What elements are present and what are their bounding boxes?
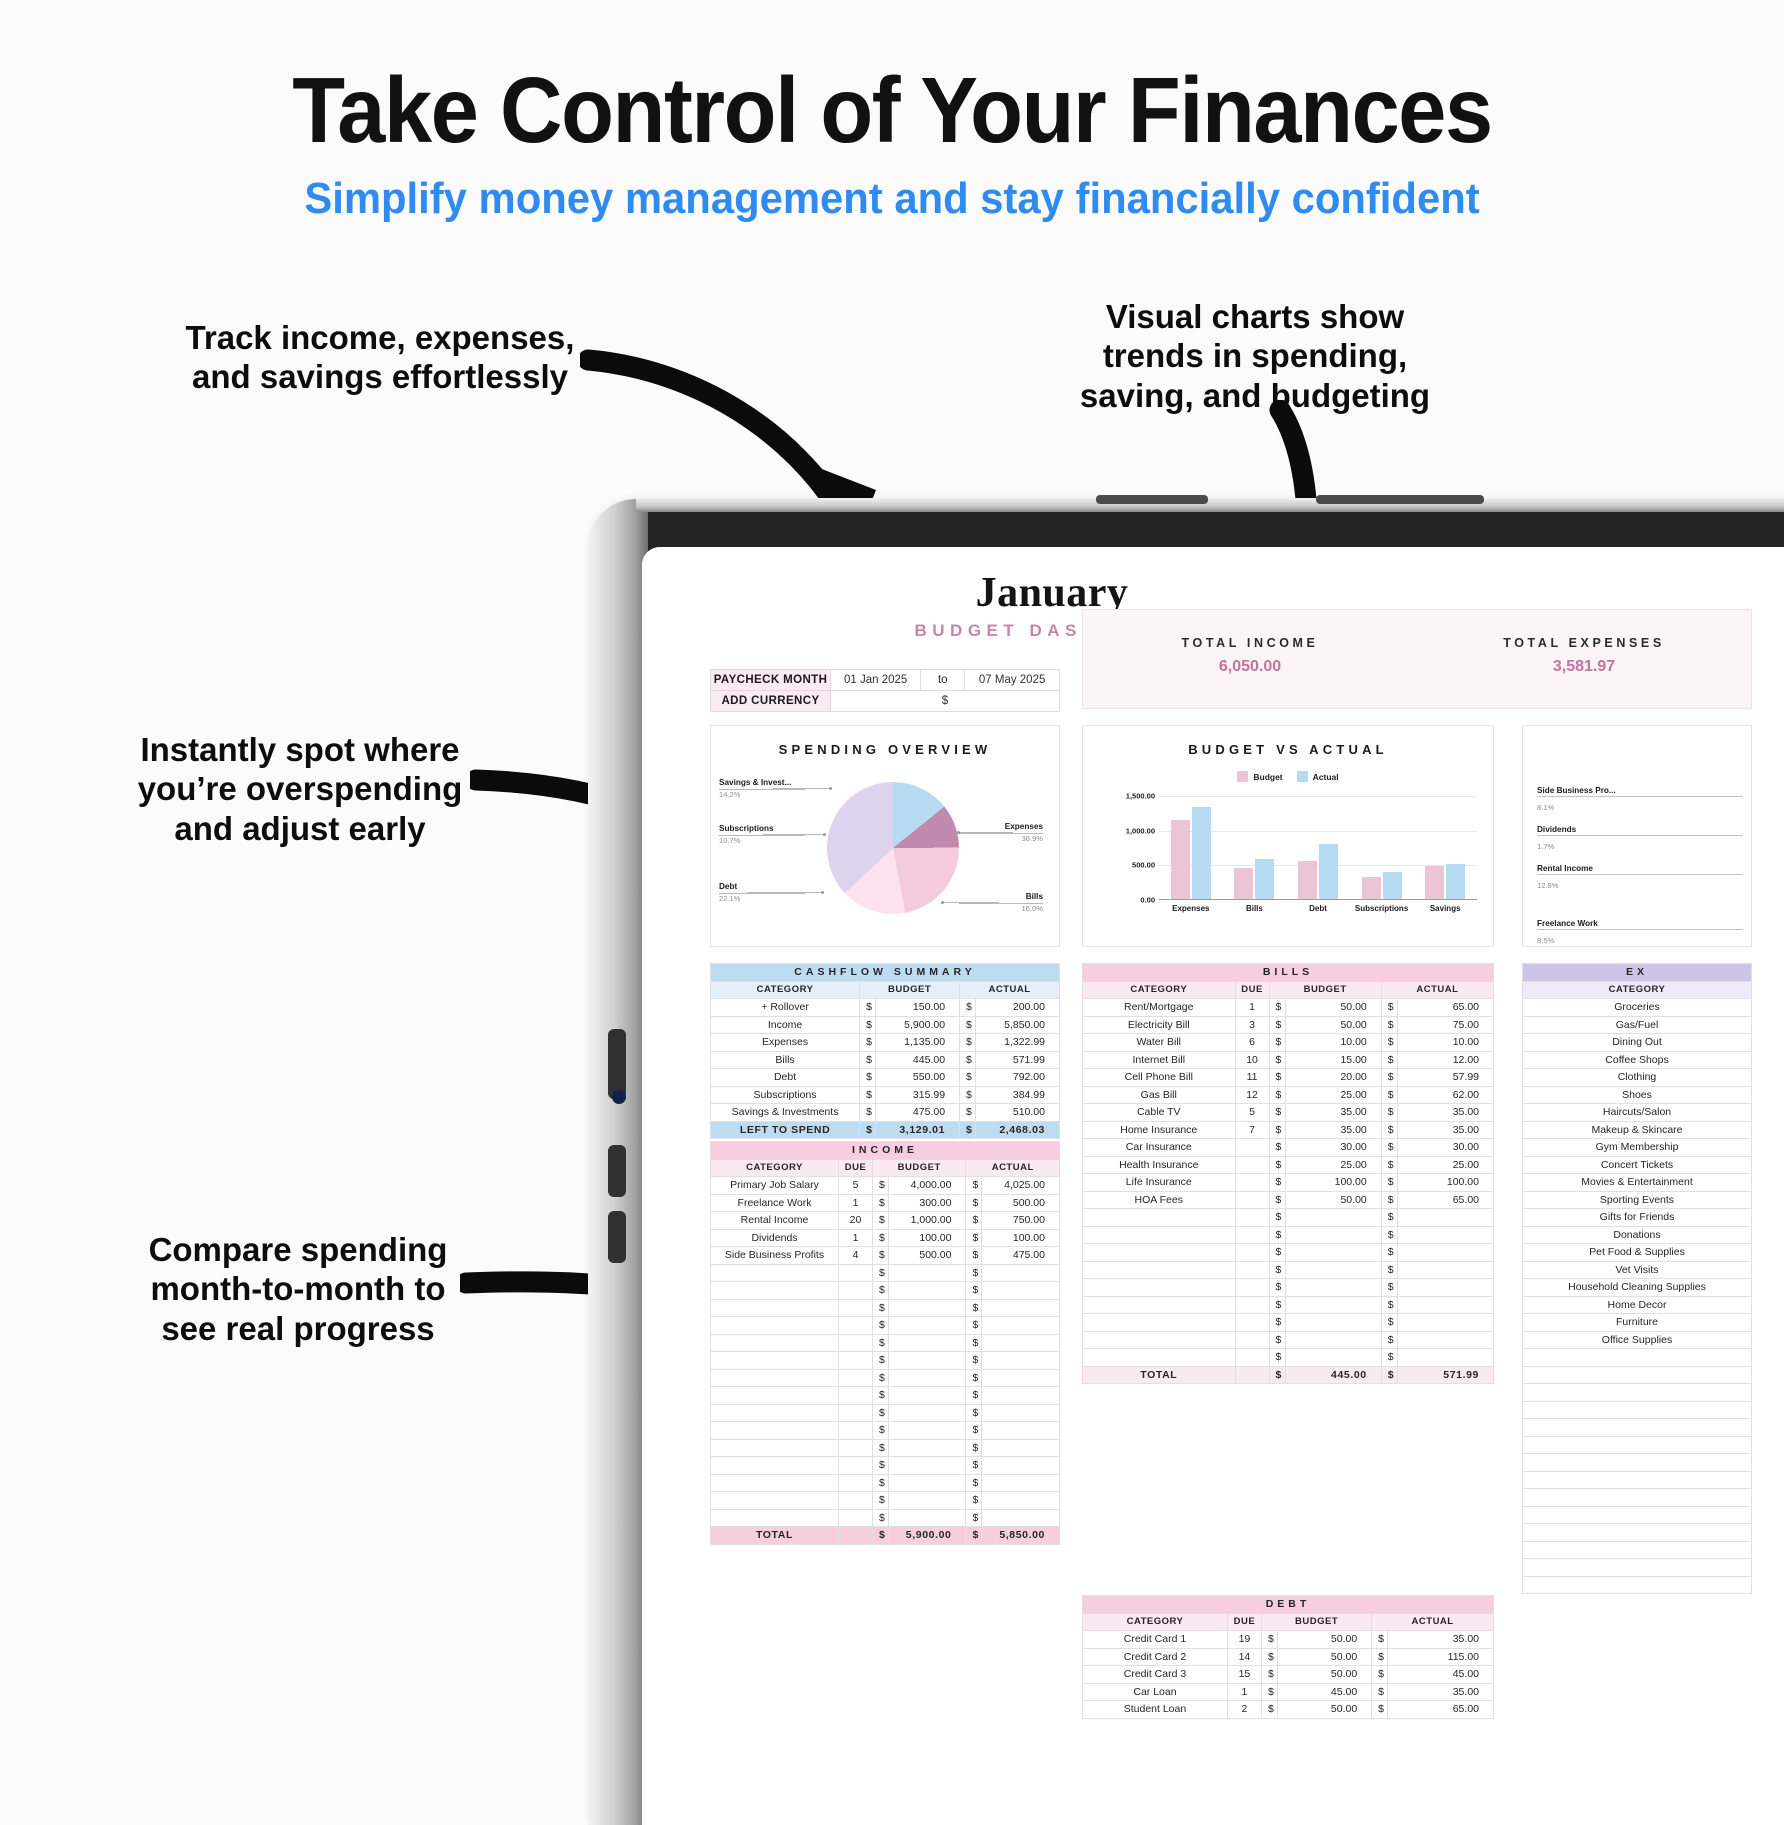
cell-actual[interactable] bbox=[1397, 1296, 1493, 1314]
cell-budget[interactable]: 1,000.00 bbox=[888, 1212, 966, 1230]
cell-budget[interactable]: 35.00 bbox=[1285, 1121, 1381, 1139]
cell-currency[interactable]: $ bbox=[1261, 1701, 1277, 1719]
blank-row[interactable]: $$ bbox=[711, 1369, 1060, 1387]
cell-currency[interactable]: $ bbox=[966, 1352, 982, 1370]
cell-budget[interactable] bbox=[1285, 1296, 1381, 1314]
cell-budget[interactable]: 1,135.00 bbox=[876, 1034, 960, 1052]
cell-currency[interactable]: $ bbox=[966, 1527, 982, 1545]
cell-due[interactable]: 4 bbox=[838, 1247, 872, 1265]
blank-row[interactable] bbox=[1523, 1401, 1752, 1419]
cell-actual[interactable]: 35.00 bbox=[1388, 1631, 1494, 1649]
cell-currency[interactable]: $ bbox=[872, 1264, 888, 1282]
cell-actual[interactable] bbox=[982, 1352, 1060, 1370]
cell-category[interactable] bbox=[711, 1457, 839, 1475]
cell-currency[interactable]: $ bbox=[966, 1212, 982, 1230]
cell-budget[interactable]: 445.00 bbox=[876, 1051, 960, 1069]
cell-currency[interactable]: $ bbox=[872, 1177, 888, 1195]
cell-category[interactable] bbox=[1083, 1244, 1236, 1262]
cell-category[interactable]: Cell Phone Bill bbox=[1083, 1069, 1236, 1087]
cell-currency[interactable]: $ bbox=[860, 999, 876, 1017]
cell-currency[interactable]: $ bbox=[872, 1369, 888, 1387]
blank-row[interactable] bbox=[1523, 1419, 1752, 1437]
cell-category[interactable]: Car Insurance bbox=[1083, 1139, 1236, 1157]
cell-category[interactable]: Coffee Shops bbox=[1523, 1051, 1752, 1069]
cell-budget[interactable]: 100.00 bbox=[1285, 1174, 1381, 1192]
cell-currency[interactable]: $ bbox=[966, 1282, 982, 1300]
cell-budget[interactable]: 50.00 bbox=[1285, 999, 1381, 1017]
cell-currency[interactable]: $ bbox=[1381, 1086, 1397, 1104]
cell-due[interactable] bbox=[1235, 1296, 1269, 1314]
cell-category[interactable] bbox=[1083, 1296, 1236, 1314]
cell-budget[interactable]: 50.00 bbox=[1277, 1648, 1371, 1666]
cell-currency[interactable]: $ bbox=[1381, 1104, 1397, 1122]
cell-due[interactable]: 12 bbox=[1235, 1086, 1269, 1104]
row-total[interactable]: TOTAL$445.00$571.99 bbox=[1083, 1366, 1494, 1384]
cell-currency[interactable]: $ bbox=[966, 1369, 982, 1387]
cell-currency[interactable]: $ bbox=[1269, 1261, 1285, 1279]
cell-actual[interactable]: 510.00 bbox=[976, 1104, 1060, 1122]
blank-row[interactable] bbox=[1523, 1366, 1752, 1384]
cell-due[interactable] bbox=[838, 1527, 872, 1545]
cell-currency[interactable]: $ bbox=[872, 1474, 888, 1492]
cell-budget[interactable] bbox=[1285, 1226, 1381, 1244]
cell-category[interactable]: Haircuts/Salon bbox=[1523, 1104, 1752, 1122]
cell-actual[interactable]: 62.00 bbox=[1397, 1086, 1493, 1104]
cell-currency[interactable]: $ bbox=[1261, 1631, 1277, 1649]
cell-actual[interactable] bbox=[1397, 1279, 1493, 1297]
cell-category[interactable] bbox=[711, 1492, 839, 1510]
cell-currency[interactable]: $ bbox=[966, 1264, 982, 1282]
blank-row[interactable]: $$ bbox=[1083, 1331, 1494, 1349]
cell-category[interactable] bbox=[711, 1387, 839, 1405]
cell-category[interactable]: Pet Food & Supplies bbox=[1523, 1244, 1752, 1262]
cell-category[interactable] bbox=[711, 1474, 839, 1492]
cell-currency[interactable]: $ bbox=[1269, 1279, 1285, 1297]
table-row[interactable]: Car Loan1$45.00$35.00 bbox=[1083, 1683, 1494, 1701]
cell-due[interactable]: 20 bbox=[838, 1212, 872, 1230]
blank-row[interactable] bbox=[1523, 1471, 1752, 1489]
cell-category[interactable]: Electricity Bill bbox=[1083, 1016, 1236, 1034]
cell-category[interactable]: Credit Card 2 bbox=[1083, 1648, 1228, 1666]
blank-row[interactable]: $$ bbox=[711, 1352, 1060, 1370]
cell-total-budget[interactable]: 445.00 bbox=[1285, 1366, 1381, 1384]
cell-due[interactable] bbox=[838, 1282, 872, 1300]
cell-currency[interactable]: $ bbox=[1381, 1366, 1397, 1384]
cell-category[interactable] bbox=[711, 1404, 839, 1422]
cell-currency[interactable]: $ bbox=[872, 1404, 888, 1422]
cell-actual[interactable]: 10.00 bbox=[1397, 1034, 1493, 1052]
cell-category[interactable]: Gas Bill bbox=[1083, 1086, 1236, 1104]
cell-due[interactable]: 6 bbox=[1235, 1034, 1269, 1052]
cell-actual[interactable]: 35.00 bbox=[1397, 1121, 1493, 1139]
cell-actual[interactable]: 500.00 bbox=[982, 1194, 1060, 1212]
cell-actual[interactable] bbox=[1397, 1209, 1493, 1227]
cell-actual[interactable] bbox=[982, 1509, 1060, 1527]
cell-currency[interactable]: $ bbox=[1269, 1034, 1285, 1052]
cell-currency[interactable]: $ bbox=[966, 1422, 982, 1440]
cell-currency[interactable]: $ bbox=[966, 1247, 982, 1265]
cell-total-label[interactable]: LEFT TO SPEND bbox=[711, 1121, 860, 1139]
cell-currency[interactable]: $ bbox=[860, 1016, 876, 1034]
cell-budget[interactable] bbox=[888, 1299, 966, 1317]
table-row[interactable]: Savings & Investments$475.00$510.00 bbox=[711, 1104, 1060, 1122]
cell-due[interactable] bbox=[1235, 1349, 1269, 1367]
cell-category[interactable]: Subscriptions bbox=[711, 1086, 860, 1104]
table-row[interactable]: Credit Card 214$50.00$115.00 bbox=[1083, 1648, 1494, 1666]
cell-due[interactable]: 5 bbox=[838, 1177, 872, 1195]
table-row[interactable]: Gas/Fuel bbox=[1523, 1016, 1752, 1034]
cell-budget[interactable]: 50.00 bbox=[1277, 1631, 1371, 1649]
cell-category[interactable]: Health Insurance bbox=[1083, 1156, 1236, 1174]
cell-budget[interactable]: 45.00 bbox=[1277, 1683, 1371, 1701]
blank-row[interactable]: $$ bbox=[1083, 1279, 1494, 1297]
cell-actual[interactable]: 200.00 bbox=[976, 999, 1060, 1017]
cell-actual[interactable] bbox=[982, 1387, 1060, 1405]
cell-currency[interactable]: $ bbox=[1381, 1191, 1397, 1209]
blank-row[interactable]: $$ bbox=[711, 1387, 1060, 1405]
table-row[interactable]: Haircuts/Salon bbox=[1523, 1104, 1752, 1122]
cell-due[interactable]: 1 bbox=[838, 1229, 872, 1247]
cell-currency[interactable]: $ bbox=[966, 1317, 982, 1335]
table-row[interactable]: Debt$550.00$792.00 bbox=[711, 1069, 1060, 1087]
cell-currency[interactable]: $ bbox=[1381, 1349, 1397, 1367]
blank-row[interactable] bbox=[1523, 1559, 1752, 1577]
cell-due[interactable]: 3 bbox=[1235, 1016, 1269, 1034]
cell-due[interactable] bbox=[1235, 1156, 1269, 1174]
cell-currency[interactable]: $ bbox=[966, 1457, 982, 1475]
cell-currency[interactable]: $ bbox=[1269, 1174, 1285, 1192]
cell-currency[interactable]: $ bbox=[860, 1069, 876, 1087]
cell-currency[interactable]: $ bbox=[872, 1457, 888, 1475]
tablet-volume-up-button[interactable] bbox=[608, 1029, 626, 1099]
cell-category[interactable]: Water Bill bbox=[1083, 1034, 1236, 1052]
cell-currency[interactable]: $ bbox=[966, 1404, 982, 1422]
cell-currency[interactable]: $ bbox=[860, 1104, 876, 1122]
cell-budget[interactable]: 25.00 bbox=[1285, 1156, 1381, 1174]
cell-actual[interactable]: 65.00 bbox=[1388, 1701, 1494, 1719]
blank-row[interactable]: $$ bbox=[711, 1334, 1060, 1352]
cell-budget[interactable] bbox=[1285, 1244, 1381, 1262]
cell-currency[interactable]: $ bbox=[860, 1121, 876, 1139]
cell-currency[interactable]: $ bbox=[872, 1509, 888, 1527]
cell-currency[interactable]: $ bbox=[1261, 1683, 1277, 1701]
cell-budget[interactable]: 35.00 bbox=[1285, 1104, 1381, 1122]
cell-category[interactable] bbox=[711, 1352, 839, 1370]
cell-due[interactable]: 1 bbox=[838, 1194, 872, 1212]
table-row[interactable]: Vet Visits bbox=[1523, 1261, 1752, 1279]
cell-due[interactable] bbox=[1235, 1331, 1269, 1349]
table-row[interactable]: Bills$445.00$571.99 bbox=[711, 1051, 1060, 1069]
cell-currency[interactable]: $ bbox=[1381, 999, 1397, 1017]
cell-currency[interactable]: $ bbox=[1381, 1314, 1397, 1332]
cell-currency[interactable]: $ bbox=[1269, 1121, 1285, 1139]
cell-category[interactable]: Income bbox=[711, 1016, 860, 1034]
row-total[interactable]: LEFT TO SPEND$3,129.01$2,468.03 bbox=[711, 1121, 1060, 1139]
cell-category[interactable] bbox=[711, 1509, 839, 1527]
cell-currency[interactable]: $ bbox=[1269, 1314, 1285, 1332]
cell-category[interactable]: Debt bbox=[711, 1069, 860, 1087]
cell-currency[interactable]: $ bbox=[1372, 1631, 1388, 1649]
cell-budget[interactable]: 20.00 bbox=[1285, 1069, 1381, 1087]
cell-category[interactable] bbox=[1083, 1209, 1236, 1227]
cell-currency[interactable]: $ bbox=[872, 1229, 888, 1247]
cell-category[interactable]: Credit Card 1 bbox=[1083, 1631, 1228, 1649]
cell-budget[interactable]: 15.00 bbox=[1285, 1051, 1381, 1069]
cell-category[interactable] bbox=[711, 1369, 839, 1387]
cell-actual[interactable]: 12.00 bbox=[1397, 1051, 1493, 1069]
blank-row[interactable]: $$ bbox=[711, 1282, 1060, 1300]
cell-total-label[interactable]: TOTAL bbox=[1083, 1366, 1236, 1384]
cell-category[interactable]: Movies & Entertainment bbox=[1523, 1174, 1752, 1192]
cell-budget[interactable]: 475.00 bbox=[876, 1104, 960, 1122]
cell-actual[interactable] bbox=[982, 1282, 1060, 1300]
cell-actual[interactable]: 65.00 bbox=[1397, 1191, 1493, 1209]
table-row[interactable]: Concert Tickets bbox=[1523, 1156, 1752, 1174]
cell-currency[interactable]: $ bbox=[872, 1527, 888, 1545]
cell-category[interactable] bbox=[1523, 1454, 1752, 1472]
cell-currency[interactable]: $ bbox=[1381, 1244, 1397, 1262]
cell-category[interactable] bbox=[1523, 1436, 1752, 1454]
cell-currency[interactable]: $ bbox=[1269, 1349, 1285, 1367]
table-row[interactable]: Student Loan2$50.00$65.00 bbox=[1083, 1701, 1494, 1719]
cell-category[interactable] bbox=[1083, 1331, 1236, 1349]
row-total[interactable]: TOTAL$5,900.00$5,850.00 bbox=[711, 1527, 1060, 1545]
cell-budget[interactable] bbox=[888, 1334, 966, 1352]
cell-currency[interactable]: $ bbox=[1269, 1156, 1285, 1174]
cell-actual[interactable]: 750.00 bbox=[982, 1212, 1060, 1230]
cell-actual[interactable] bbox=[982, 1264, 1060, 1282]
cell-actual[interactable]: 30.00 bbox=[1397, 1139, 1493, 1157]
cell-currency[interactable]: $ bbox=[1381, 1226, 1397, 1244]
cell-currency[interactable]: $ bbox=[1372, 1666, 1388, 1684]
cell-currency[interactable]: $ bbox=[1381, 1261, 1397, 1279]
cell-currency[interactable]: $ bbox=[966, 1299, 982, 1317]
cell-budget[interactable]: 50.00 bbox=[1285, 1191, 1381, 1209]
cell-category[interactable]: + Rollover bbox=[711, 999, 860, 1017]
table-row[interactable]: Sporting Events bbox=[1523, 1191, 1752, 1209]
cell-category[interactable]: Household Cleaning Supplies bbox=[1523, 1279, 1752, 1297]
cell-currency[interactable]: $ bbox=[966, 1177, 982, 1195]
cell-category[interactable] bbox=[711, 1317, 839, 1335]
blank-row[interactable]: $$ bbox=[711, 1264, 1060, 1282]
cell-category[interactable] bbox=[711, 1282, 839, 1300]
blank-row[interactable]: $$ bbox=[711, 1492, 1060, 1510]
cell-currency[interactable]: $ bbox=[960, 999, 976, 1017]
cell-category[interactable]: Life Insurance bbox=[1083, 1174, 1236, 1192]
blank-row[interactable]: $$ bbox=[711, 1422, 1060, 1440]
blank-row[interactable]: $$ bbox=[1083, 1296, 1494, 1314]
cell-budget[interactable] bbox=[888, 1264, 966, 1282]
cell-currency[interactable]: $ bbox=[1372, 1648, 1388, 1666]
cell-due[interactable] bbox=[838, 1439, 872, 1457]
cell-actual[interactable]: 57.99 bbox=[1397, 1069, 1493, 1087]
cell-budget[interactable]: 300.00 bbox=[888, 1194, 966, 1212]
table-row[interactable]: Home Decor bbox=[1523, 1296, 1752, 1314]
cell-category[interactable]: Expenses bbox=[711, 1034, 860, 1052]
cell-category[interactable] bbox=[711, 1422, 839, 1440]
cell-total-actual[interactable]: 571.99 bbox=[1397, 1366, 1493, 1384]
cell-due[interactable] bbox=[838, 1299, 872, 1317]
cell-budget[interactable] bbox=[888, 1369, 966, 1387]
table-row[interactable]: Side Business Profits4$500.00$475.00 bbox=[711, 1247, 1060, 1265]
cell-due[interactable]: 19 bbox=[1227, 1631, 1261, 1649]
cell-currency[interactable]: $ bbox=[872, 1317, 888, 1335]
cell-category[interactable]: Home Insurance bbox=[1083, 1121, 1236, 1139]
table-row[interactable]: Dividends1$100.00$100.00 bbox=[711, 1229, 1060, 1247]
cell-currency[interactable]: $ bbox=[1381, 1139, 1397, 1157]
cell-category[interactable]: Freelance Work bbox=[711, 1194, 839, 1212]
cell-category[interactable]: Groceries bbox=[1523, 999, 1752, 1017]
cell-budget[interactable]: 30.00 bbox=[1285, 1139, 1381, 1157]
table-row[interactable]: Movies & Entertainment bbox=[1523, 1174, 1752, 1192]
cell-currency[interactable]: $ bbox=[1381, 1331, 1397, 1349]
table-row[interactable]: Cable TV5$35.00$35.00 bbox=[1083, 1104, 1494, 1122]
cell-currency[interactable]: $ bbox=[1381, 1069, 1397, 1087]
cell-actual[interactable]: 571.99 bbox=[976, 1051, 1060, 1069]
cell-actual[interactable] bbox=[1397, 1331, 1493, 1349]
cell-currency[interactable]: $ bbox=[1372, 1683, 1388, 1701]
cell-actual[interactable] bbox=[1397, 1261, 1493, 1279]
table-row[interactable]: Expenses$1,135.00$1,322.99 bbox=[711, 1034, 1060, 1052]
cell-budget[interactable] bbox=[888, 1404, 966, 1422]
cell-currency[interactable]: $ bbox=[860, 1086, 876, 1104]
cell-category[interactable] bbox=[711, 1334, 839, 1352]
table-row[interactable]: Credit Card 315$50.00$45.00 bbox=[1083, 1666, 1494, 1684]
table-row[interactable]: Internet Bill10$15.00$12.00 bbox=[1083, 1051, 1494, 1069]
cell-currency[interactable]: $ bbox=[1381, 1174, 1397, 1192]
cell-currency[interactable]: $ bbox=[960, 1034, 976, 1052]
cell-budget[interactable] bbox=[888, 1387, 966, 1405]
table-row[interactable]: Rental Income20$1,000.00$750.00 bbox=[711, 1212, 1060, 1230]
cell-budget[interactable] bbox=[888, 1474, 966, 1492]
cell-due[interactable] bbox=[838, 1404, 872, 1422]
cell-category[interactable] bbox=[1523, 1384, 1752, 1402]
cell-due[interactable] bbox=[838, 1264, 872, 1282]
cell-currency[interactable]: $ bbox=[1261, 1666, 1277, 1684]
table-row[interactable]: + Rollover$150.00$200.00 bbox=[711, 999, 1060, 1017]
cell-currency[interactable]: $ bbox=[960, 1086, 976, 1104]
cell-currency[interactable]: $ bbox=[872, 1282, 888, 1300]
table-row[interactable]: Coffee Shops bbox=[1523, 1051, 1752, 1069]
table-row[interactable]: Income$5,900.00$5,850.00 bbox=[711, 1016, 1060, 1034]
cell-currency[interactable]: $ bbox=[960, 1016, 976, 1034]
cell-budget[interactable] bbox=[1285, 1349, 1381, 1367]
cell-due[interactable] bbox=[1235, 1226, 1269, 1244]
tablet-power-button[interactable] bbox=[608, 1211, 626, 1263]
table-row[interactable]: Subscriptions$315.99$384.99 bbox=[711, 1086, 1060, 1104]
table-row[interactable]: Office Supplies bbox=[1523, 1331, 1752, 1349]
cell-currency[interactable]: $ bbox=[966, 1387, 982, 1405]
cell-budget[interactable] bbox=[888, 1317, 966, 1335]
cell-currency[interactable]: $ bbox=[966, 1194, 982, 1212]
cell-currency[interactable]: $ bbox=[1269, 1331, 1285, 1349]
cell-due[interactable]: 14 bbox=[1227, 1648, 1261, 1666]
cell-category[interactable]: Savings & Investments bbox=[711, 1104, 860, 1122]
cell-currency[interactable]: $ bbox=[960, 1051, 976, 1069]
cell-budget[interactable]: 4,000.00 bbox=[888, 1177, 966, 1195]
cell-actual[interactable]: 100.00 bbox=[982, 1229, 1060, 1247]
cell-budget[interactable] bbox=[1285, 1314, 1381, 1332]
cell-due[interactable] bbox=[1235, 1209, 1269, 1227]
cell-budget[interactable]: 10.00 bbox=[1285, 1034, 1381, 1052]
cell-actual[interactable] bbox=[982, 1299, 1060, 1317]
cell-category[interactable]: Clothing bbox=[1523, 1069, 1752, 1087]
cell-actual[interactable]: 45.00 bbox=[1388, 1666, 1494, 1684]
blank-row[interactable]: $$ bbox=[711, 1404, 1060, 1422]
cell-actual[interactable]: 115.00 bbox=[1388, 1648, 1494, 1666]
cell-currency[interactable]: $ bbox=[1269, 1366, 1285, 1384]
cell-actual[interactable] bbox=[1397, 1349, 1493, 1367]
cell-currency[interactable]: $ bbox=[966, 1334, 982, 1352]
cell-due[interactable] bbox=[838, 1509, 872, 1527]
cell-category[interactable]: Donations bbox=[1523, 1226, 1752, 1244]
cell-currency[interactable]: $ bbox=[1269, 1086, 1285, 1104]
cell-actual[interactable]: 475.00 bbox=[982, 1247, 1060, 1265]
cell-due[interactable]: 1 bbox=[1235, 999, 1269, 1017]
cell-currency[interactable]: $ bbox=[1381, 1279, 1397, 1297]
cell-currency[interactable]: $ bbox=[872, 1422, 888, 1440]
tablet-volume-down-button[interactable] bbox=[608, 1145, 626, 1197]
cell-due[interactable]: 15 bbox=[1227, 1666, 1261, 1684]
table-row[interactable]: Life Insurance$100.00$100.00 bbox=[1083, 1174, 1494, 1192]
cell-budget[interactable]: 50.00 bbox=[1285, 1016, 1381, 1034]
cell-category[interactable]: Office Supplies bbox=[1523, 1331, 1752, 1349]
cell-budget[interactable] bbox=[1285, 1279, 1381, 1297]
cell-category[interactable]: Concert Tickets bbox=[1523, 1156, 1752, 1174]
cell-currency[interactable]: $ bbox=[872, 1492, 888, 1510]
cell-category[interactable]: Home Decor bbox=[1523, 1296, 1752, 1314]
cell-currency[interactable]: $ bbox=[1269, 1244, 1285, 1262]
cell-total-actual[interactable]: 5,850.00 bbox=[982, 1527, 1060, 1545]
blank-row[interactable] bbox=[1523, 1454, 1752, 1472]
cell-category[interactable] bbox=[1083, 1261, 1236, 1279]
cell-currency[interactable]: $ bbox=[1269, 1296, 1285, 1314]
cell-currency[interactable]: $ bbox=[872, 1387, 888, 1405]
cell-category[interactable]: Gym Membership bbox=[1523, 1139, 1752, 1157]
cell-currency[interactable]: $ bbox=[872, 1439, 888, 1457]
cell-category[interactable] bbox=[1083, 1226, 1236, 1244]
cell-currency[interactable]: $ bbox=[1381, 1051, 1397, 1069]
table-row[interactable]: Water Bill6$10.00$10.00 bbox=[1083, 1034, 1494, 1052]
cell-currency[interactable]: $ bbox=[1269, 1139, 1285, 1157]
cell-category[interactable] bbox=[1523, 1349, 1752, 1367]
cell-budget[interactable] bbox=[888, 1422, 966, 1440]
cell-budget[interactable] bbox=[888, 1492, 966, 1510]
cell-actual[interactable] bbox=[982, 1317, 1060, 1335]
cell-actual[interactable] bbox=[1397, 1314, 1493, 1332]
cell-budget[interactable] bbox=[888, 1439, 966, 1457]
cell-due[interactable] bbox=[838, 1422, 872, 1440]
cell-total-budget[interactable]: 5,900.00 bbox=[888, 1527, 966, 1545]
cell-budget[interactable]: 100.00 bbox=[888, 1229, 966, 1247]
cell-due[interactable] bbox=[1235, 1261, 1269, 1279]
cell-due[interactable] bbox=[1235, 1314, 1269, 1332]
cell-budget[interactable] bbox=[888, 1282, 966, 1300]
currency-value[interactable]: $ bbox=[831, 691, 1060, 712]
cell-category[interactable] bbox=[1083, 1279, 1236, 1297]
cell-budget[interactable]: 550.00 bbox=[876, 1069, 960, 1087]
cell-category[interactable] bbox=[1523, 1559, 1752, 1577]
cell-currency[interactable]: $ bbox=[1269, 1209, 1285, 1227]
cell-budget[interactable] bbox=[1285, 1261, 1381, 1279]
blank-row[interactable] bbox=[1523, 1489, 1752, 1507]
blank-row[interactable] bbox=[1523, 1384, 1752, 1402]
cell-currency[interactable]: $ bbox=[1269, 1191, 1285, 1209]
cell-budget[interactable] bbox=[888, 1457, 966, 1475]
cell-category[interactable]: HOA Fees bbox=[1083, 1191, 1236, 1209]
cell-due[interactable] bbox=[1235, 1174, 1269, 1192]
blank-row[interactable] bbox=[1523, 1524, 1752, 1542]
